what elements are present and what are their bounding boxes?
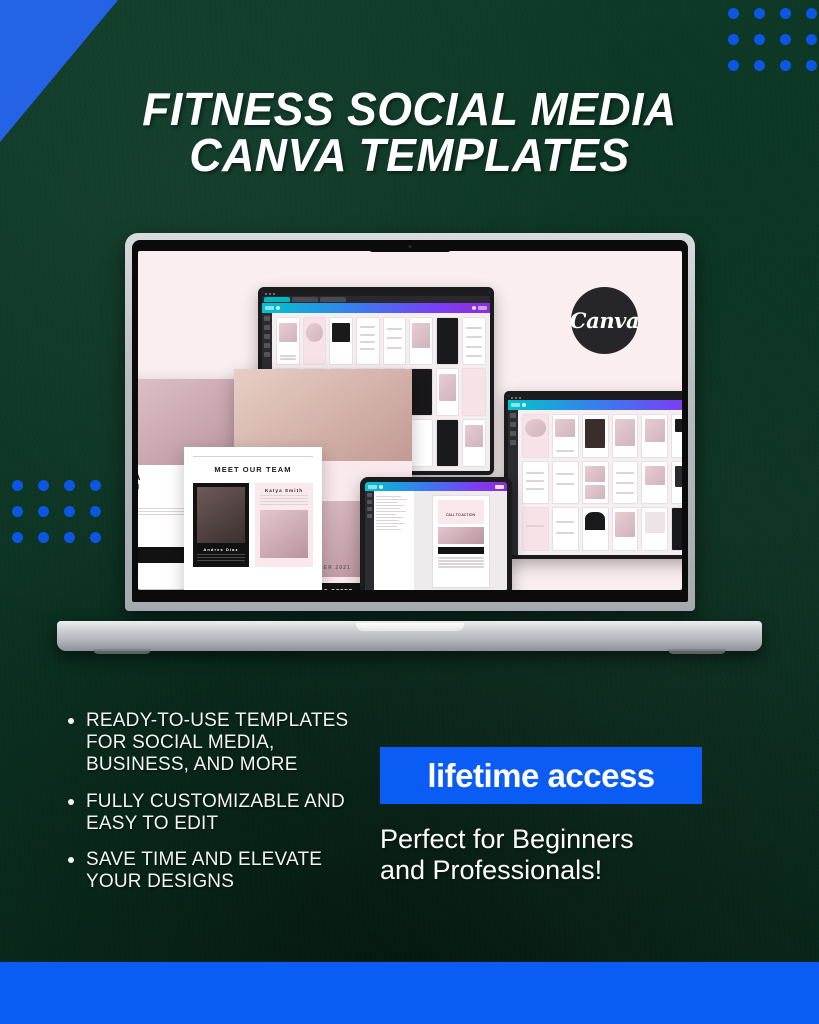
- doc-cta-button[interactable]: [438, 547, 484, 554]
- list-item: FULLY CUSTOMIZABLE AND EASY TO EDIT: [62, 791, 372, 835]
- decorative-dot: [780, 60, 791, 71]
- feature-bullet-list: READY-TO-USE TEMPLATES FOR SOCIAL MEDIA,…: [62, 710, 372, 908]
- template-thumb: [671, 507, 682, 551]
- page-title: FITNESS SOCIAL MEDIA CANVA TEMPLATES: [0, 86, 819, 178]
- template-grid: [520, 412, 682, 553]
- team-member-2-name: Katya Smith: [260, 488, 308, 493]
- template-thumb: [436, 317, 460, 365]
- template-thumb: [383, 317, 407, 365]
- decorative-dot: [754, 60, 765, 71]
- laptop-bezel: Canva: [132, 240, 688, 602]
- decorative-dot: [728, 60, 739, 71]
- tablet-screen: CALL TO ACTION: [365, 482, 507, 590]
- decorative-dot: [38, 532, 49, 543]
- print-card-meet-our-team: MEET OUR TEAM Andres Diaz: [184, 447, 322, 590]
- template-thumb: [462, 419, 486, 467]
- canva-toolbar: [508, 400, 682, 410]
- tablet-device: CALL TO ACTION: [360, 477, 512, 590]
- team-member-1: Andres Diaz: [193, 483, 249, 567]
- template-thumb: [671, 414, 682, 458]
- template-thumb: [462, 368, 486, 416]
- decorative-dot: [728, 8, 739, 19]
- team-member-1-name: Andres Diaz: [197, 547, 245, 552]
- tagline-line-1: Perfect for Beginners: [380, 824, 720, 855]
- template-thumb: [409, 368, 433, 416]
- canva-logo-text: Canva: [570, 308, 639, 333]
- template-thumb: [641, 461, 668, 505]
- template-thumb: [552, 461, 579, 505]
- dot-grid-top-right: [728, 8, 819, 86]
- template-thumb: [409, 317, 433, 365]
- template-thumb: [303, 317, 327, 365]
- template-thumb: [522, 461, 549, 505]
- canva-toolbar: [365, 482, 507, 491]
- card-heading: MEET OUR TEAM: [193, 465, 313, 474]
- webcam-notch-icon: [367, 240, 453, 252]
- right-laptop-device: [504, 391, 682, 559]
- template-thumb: [641, 507, 668, 551]
- canva-logo: Canva: [571, 287, 638, 354]
- laptop-foot-right: [668, 649, 726, 654]
- decorative-dot: [780, 8, 791, 19]
- title-line-1: FITNESS SOCIAL MEDIA: [12, 86, 806, 132]
- laptop-base: [57, 621, 762, 651]
- tagline: Perfect for Beginners and Professionals!: [380, 824, 720, 886]
- decorative-dot: [12, 532, 23, 543]
- template-thumb: [276, 317, 300, 365]
- template-thumb: [582, 461, 609, 505]
- template-thumb: [582, 507, 609, 551]
- template-thumb: [612, 507, 639, 551]
- bottom-accent-bar: [0, 962, 819, 1024]
- template-thumb: [612, 461, 639, 505]
- decorative-dot: [38, 506, 49, 517]
- doc-heading: CALL TO ACTION: [446, 513, 475, 517]
- laptop-lip-notch: [356, 623, 464, 631]
- lifetime-access-label: lifetime access: [427, 757, 654, 795]
- laptop-foot-left: [93, 649, 151, 654]
- poster-canvas: FITNESS SOCIAL MEDIA CANVA TEMPLATES Can…: [0, 0, 819, 1024]
- template-thumb: [436, 368, 460, 416]
- lifetime-access-badge: lifetime access: [380, 747, 702, 804]
- template-thumb: [329, 317, 353, 365]
- laptop-screen: Canva: [138, 251, 682, 590]
- decorative-dot: [754, 34, 765, 45]
- laptop-mockup: Canva: [57, 233, 762, 651]
- canva-toolbar: [262, 303, 490, 313]
- list-item: READY-TO-USE TEMPLATES FOR SOCIAL MEDIA,…: [62, 710, 372, 777]
- template-thumb: [409, 419, 433, 467]
- template-thumb: [612, 414, 639, 458]
- template-thumb: [641, 414, 668, 458]
- decorative-dot: [38, 480, 49, 491]
- template-thumb: [436, 419, 460, 467]
- card-photo: [197, 487, 245, 543]
- card-photo: [260, 510, 308, 558]
- template-thumb: [582, 414, 609, 458]
- template-thumb: [522, 414, 549, 458]
- template-thumb: [356, 317, 380, 365]
- decorative-dot: [806, 34, 817, 45]
- decorative-dot: [728, 34, 739, 45]
- template-thumb: [462, 317, 486, 365]
- template-thumb: [671, 461, 682, 505]
- template-thumb: [552, 507, 579, 551]
- decorative-dot: [780, 34, 791, 45]
- decorative-dot: [754, 8, 765, 19]
- decorative-dot: [12, 480, 23, 491]
- decorative-dot: [806, 60, 817, 71]
- template-thumb: [522, 507, 549, 551]
- browser-tabstrip: [262, 296, 490, 303]
- decorative-dot: [12, 506, 23, 517]
- laptop-lid: Canva: [125, 233, 695, 611]
- tagline-line-2: and Professionals!: [380, 855, 720, 886]
- right-laptop-screen: [508, 395, 682, 555]
- list-item: SAVE TIME AND ELEVATE YOUR DESIGNS: [62, 849, 372, 893]
- template-thumb: [552, 414, 579, 458]
- doc-photo: [438, 527, 484, 544]
- title-line-2: CANVA TEMPLATES: [12, 132, 806, 178]
- decorative-dot: [806, 8, 817, 19]
